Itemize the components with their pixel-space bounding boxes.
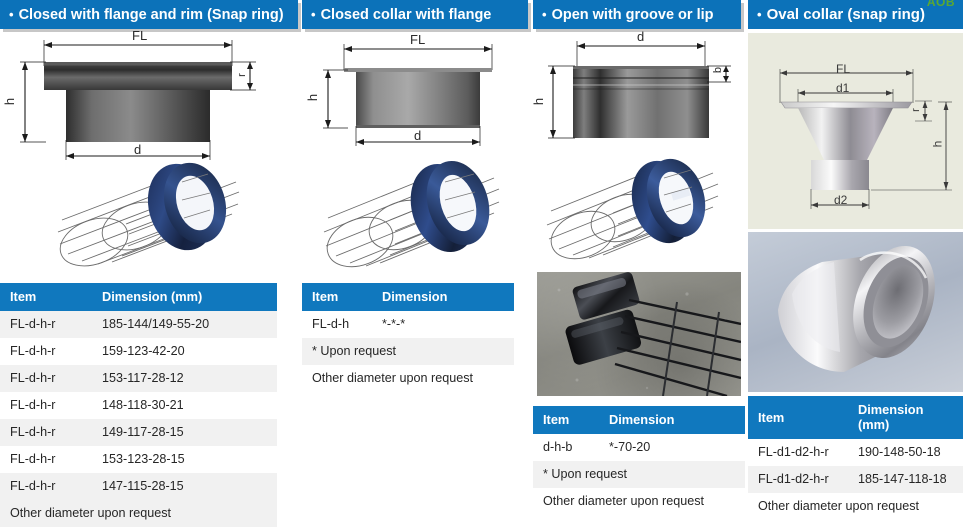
table-row[interactable]: FL-d-h-r185-144/149-55-20 — [0, 311, 277, 338]
bullet-icon: • — [542, 8, 547, 21]
dim-label-h: h — [531, 98, 546, 105]
corner-logo-text: AOB — [927, 0, 955, 9]
col-header-dimension: Dimension (mm) — [848, 396, 963, 439]
cell-item: d-h-b — [533, 434, 599, 461]
cell-dimension: 147-115-28-15 — [92, 473, 277, 500]
table-3-wrapper: Item Dimension d-h-b*-70-20 * Upon reque… — [533, 406, 745, 515]
render-oval-collar-3d — [748, 232, 963, 392]
col-header-dimension: Dimension (mm) — [92, 283, 277, 311]
table-row[interactable]: FL-d-h-r147-115-28-15 — [0, 473, 277, 500]
photo-cage-collar — [537, 272, 741, 396]
bullet-icon: • — [757, 8, 762, 21]
drawing-closed-flange-rim-cross-section: FL h r d — [0, 32, 298, 162]
dim-label-h: h — [305, 94, 320, 101]
panel-1-title: Closed with flange and rim (Snap ring) — [19, 7, 284, 23]
footer-note: Other diameter upon request — [748, 493, 963, 520]
cell-dimension: 190-148-50-18 — [848, 439, 963, 466]
render-blue-open-collar-cage-3d — [533, 155, 745, 267]
dim-label-FL: FL — [132, 28, 147, 43]
footer-note: Other diameter upon request — [302, 365, 514, 392]
dim-label-d2: d2 — [834, 193, 847, 207]
cell-item: FL-d-h — [302, 311, 372, 338]
panel-3-title: Open with groove or lip — [552, 7, 714, 23]
table-note-row: * Upon request — [302, 338, 514, 365]
cell-dimension: *-70-20 — [599, 434, 745, 461]
dim-label-r: r — [236, 73, 248, 77]
dim-label-h: h — [930, 141, 944, 148]
cell-dimension: *-*-* — [372, 311, 514, 338]
table-2-wrapper: Item Dimension FL-d-h*-*-* * Upon reques… — [302, 283, 514, 392]
dim-label-d1: d1 — [836, 81, 849, 95]
cell-item: FL-d-h-r — [0, 311, 92, 338]
col-header-item: Item — [748, 396, 848, 439]
dimension-table-2: Item Dimension FL-d-h*-*-* * Upon reques… — [302, 283, 514, 392]
drawing-oval-collar-cross-section: FL d1 r h d2 — [748, 33, 963, 229]
cross-section-svg — [748, 33, 963, 229]
bullet-icon: • — [311, 8, 316, 21]
cell-item: FL-d-h-r — [0, 392, 92, 419]
dim-label-d: d — [414, 128, 421, 143]
dim-label-b: b — [712, 67, 724, 73]
panel-4-title: Oval collar (snap ring) — [767, 6, 925, 23]
panel-oval-collar-snap-ring: • Oval collar (snap ring) — [748, 0, 963, 515]
cell-item: FL-d-h-r — [0, 473, 92, 500]
footer-note: Other diameter upon request — [0, 500, 277, 527]
table-1-wrapper: Item Dimension (mm) FL-d-h-r185-144/149-… — [0, 283, 277, 527]
col-header-dimension: Dimension — [372, 283, 514, 311]
cage-svg — [32, 160, 262, 276]
table-footer-row: Other diameter upon request — [302, 365, 514, 392]
render-blue-collar-cage-3d — [302, 158, 528, 278]
cell-item: FL-d-h-r — [0, 365, 92, 392]
col-header-dimension: Dimension — [599, 406, 745, 434]
table-footer-row: Other diameter upon request — [0, 500, 277, 527]
table-header-row: Item Dimension — [533, 406, 745, 434]
upon-request-note: * Upon request — [302, 338, 514, 365]
cross-section-svg — [0, 32, 298, 162]
col-header-item: Item — [302, 283, 372, 311]
table-note-row: * Upon request — [533, 461, 745, 488]
dimension-table-4: Item Dimension (mm) FL-d1-d2-h-r190-148-… — [748, 396, 963, 520]
panel-1-header[interactable]: • Closed with flange and rim (Snap ring) — [0, 0, 298, 29]
cross-section-svg — [533, 32, 745, 162]
cell-item: FL-d-h-r — [0, 446, 92, 473]
dim-label-h: h — [2, 98, 17, 105]
cell-dimension: 149-117-28-15 — [92, 419, 277, 446]
table-row[interactable]: FL-d-h-r148-118-30-21 — [0, 392, 277, 419]
table-row[interactable]: FL-d-h-r149-117-28-15 — [0, 419, 277, 446]
cage-svg — [302, 158, 528, 278]
drawing-closed-collar-flange-cross-section: FL h d — [302, 32, 528, 164]
table-row[interactable]: FL-d1-d2-h-r190-148-50-18 — [748, 439, 963, 466]
upon-request-note: * Upon request — [533, 461, 745, 488]
table-footer-row: Other diameter upon request — [748, 493, 963, 520]
dimension-table-3: Item Dimension d-h-b*-70-20 * Upon reque… — [533, 406, 745, 515]
cell-dimension: 153-117-28-12 — [92, 365, 277, 392]
table-row[interactable]: FL-d-h-r153-117-28-12 — [0, 365, 277, 392]
dim-label-d: d — [637, 29, 644, 44]
panel-3-header[interactable]: • Open with groove or lip — [533, 0, 741, 29]
dim-label-d: d — [134, 142, 141, 157]
table-header-row: Item Dimension (mm) — [0, 283, 277, 311]
panel-2-header[interactable]: • Closed collar with flange — [302, 0, 528, 29]
photo-content — [537, 272, 741, 396]
cell-dimension: 185-144/149-55-20 — [92, 311, 277, 338]
cell-item: FL-d1-d2-h-r — [748, 439, 848, 466]
oval-collar-svg — [748, 232, 963, 392]
drawing-open-groove-lip-cross-section: d h b — [533, 32, 745, 162]
dim-label-FL: FL — [836, 62, 850, 76]
cross-section-svg — [302, 32, 528, 164]
panel-closed-collar-with-flange: • Closed collar with flange — [302, 0, 530, 515]
table-row[interactable]: FL-d-h-r159-123-42-20 — [0, 338, 277, 365]
cell-item: FL-d-h-r — [0, 419, 92, 446]
cell-dimension: 185-147-118-18 — [848, 466, 963, 493]
cell-item: FL-d-h-r — [0, 338, 92, 365]
cell-dimension: 159-123-42-20 — [92, 338, 277, 365]
render-blue-flange-cage-3d — [32, 160, 262, 276]
dim-label-FL: FL — [410, 32, 425, 47]
footer-note: Other diameter upon request — [533, 488, 745, 515]
table-4-wrapper: Item Dimension (mm) FL-d1-d2-h-r190-148-… — [748, 396, 963, 520]
panel-2-title: Closed collar with flange — [321, 7, 492, 23]
panel-closed-with-flange-and-rim: • Closed with flange and rim (Snap ring) — [0, 0, 298, 515]
dimension-table-1: Item Dimension (mm) FL-d-h-r185-144/149-… — [0, 283, 277, 527]
table-footer-row: Other diameter upon request — [533, 488, 745, 515]
dim-label-r: r — [910, 108, 922, 112]
panel-open-with-groove-or-lip: • Open with groove or lip — [533, 0, 745, 515]
cell-dimension: 153-123-28-15 — [92, 446, 277, 473]
table-row[interactable]: FL-d1-d2-h-r185-147-118-18 — [748, 466, 963, 493]
cell-item: FL-d1-d2-h-r — [748, 466, 848, 493]
col-header-item: Item — [0, 283, 92, 311]
col-header-item: Item — [533, 406, 599, 434]
table-header-row: Item Dimension (mm) — [748, 396, 963, 439]
cage-svg — [533, 155, 745, 267]
table-row[interactable]: FL-d-h*-*-* — [302, 311, 514, 338]
cell-dimension: 148-118-30-21 — [92, 392, 277, 419]
table-row[interactable]: FL-d-h-r153-123-28-15 — [0, 446, 277, 473]
table-header-row: Item Dimension — [302, 283, 514, 311]
bullet-icon: • — [9, 8, 14, 21]
table-row[interactable]: d-h-b*-70-20 — [533, 434, 745, 461]
